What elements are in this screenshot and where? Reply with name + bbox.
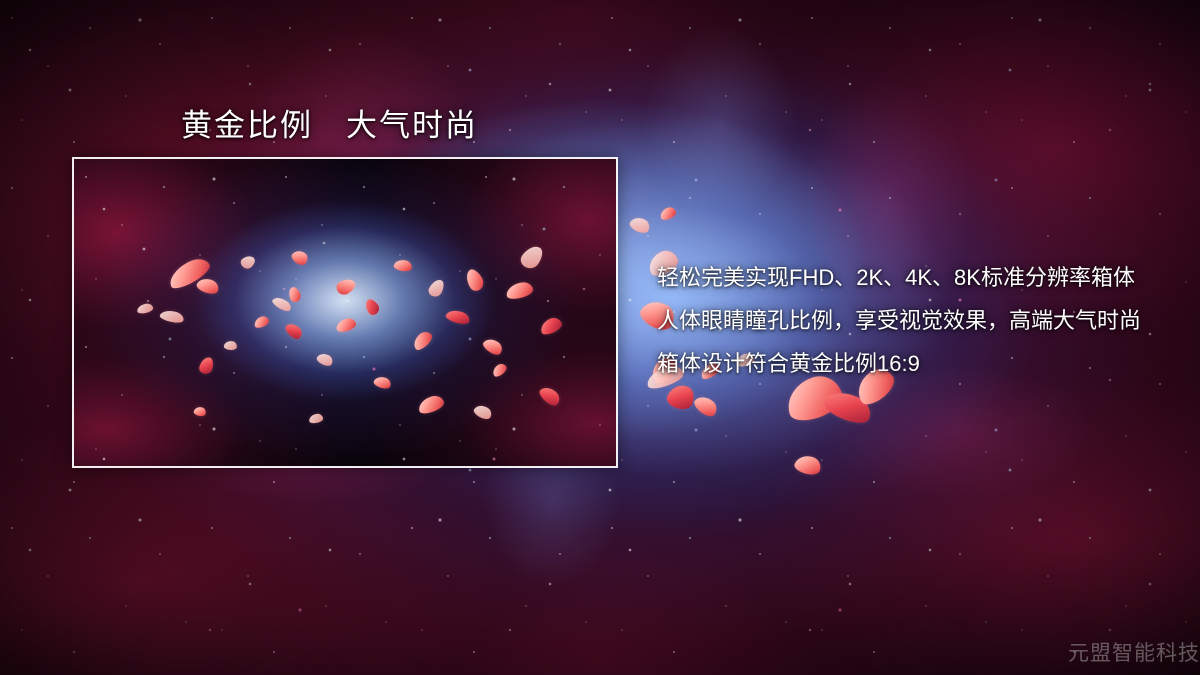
body-line-3: 箱体设计符合黄金比例16:9 [657,342,1177,385]
framed-photo-content [74,159,616,466]
watermark: 元盟智能科技 [1068,637,1200,667]
presentation-slide: 黄金比例 大气时尚 轻松完美实现FHD、2K、4K、8K标准分辨率箱体 人体眼睛… [0,0,1200,675]
body-copy: 轻松完美实现FHD、2K、4K、8K标准分辨率箱体 人体眼睛瞳孔比例，享受视觉效… [657,256,1177,385]
body-line-1: 轻松完美实现FHD、2K、4K、8K标准分辨率箱体 [657,256,1177,299]
body-line-2: 人体眼睛瞳孔比例，享受视觉效果，高端大气时尚 [657,299,1177,342]
framed-starfield-bright [74,159,616,466]
framed-photo [72,157,618,468]
page-title: 黄金比例 大气时尚 [181,100,478,145]
